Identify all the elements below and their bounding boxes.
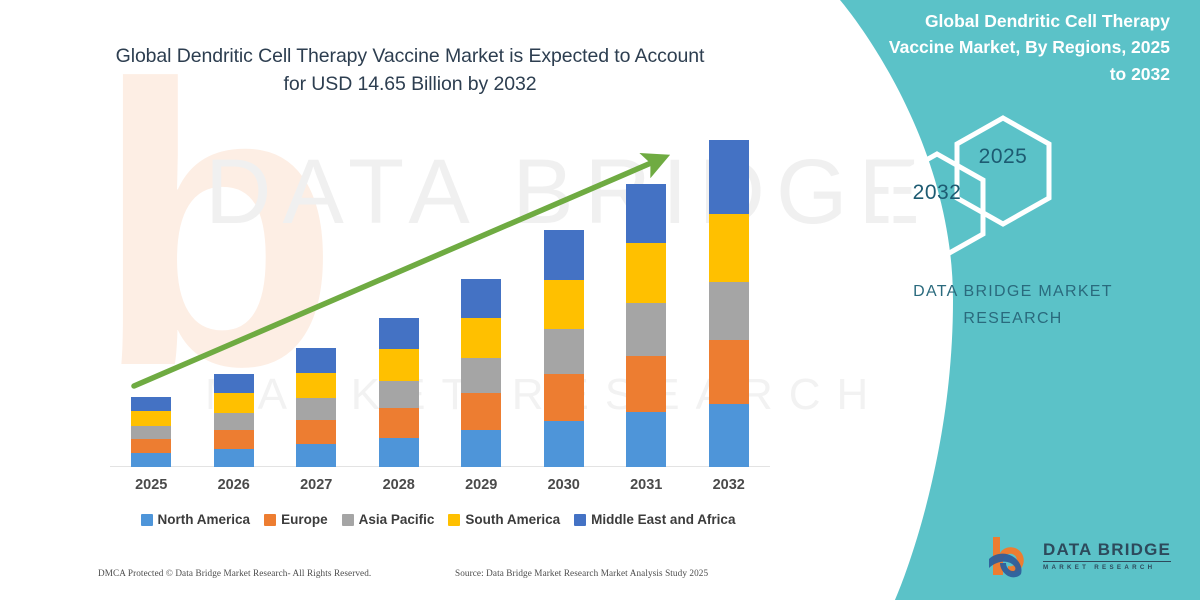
x-axis-tick-label: 2030 [524,477,604,493]
bar-segment [131,426,171,439]
bar-group [379,318,419,467]
x-axis-tick-label: 2032 [689,477,769,493]
legend-swatch-icon [448,514,460,526]
bar-segment [131,411,171,426]
bar-segment [544,421,584,467]
bar-segment [214,393,254,413]
bar-segment [626,356,666,413]
bar-segment [709,140,749,214]
bar-segment [626,184,666,243]
bar-group [461,279,501,467]
bar-segment [214,449,254,467]
x-axis-tick-label: 2029 [441,477,521,493]
bar-segment [544,329,584,373]
legend-swatch-icon [141,514,153,526]
plot-area [110,140,770,467]
legend-label: South America [465,512,560,527]
bar-segment [461,279,501,318]
dbmr-logo: DATA BRIDGE MARKET RESEARCH [985,530,1185,582]
bar-segment [296,348,336,373]
bar-segment [296,420,336,444]
bar-segment [626,243,666,303]
x-axis-labels: 20252026202720282029203020312032 [110,477,770,499]
bar-segment [709,404,749,467]
legend-item[interactable]: Middle East and Africa [574,512,735,527]
panel-brand-text: DATA BRIDGE MARKET RESEARCH [848,278,1178,332]
bar-segment [461,393,501,431]
panel-brand-line1: DATA BRIDGE MARKET [848,278,1178,305]
legend-item[interactable]: Asia Pacific [342,512,435,527]
footer-copyright: DMCA Protected © Data Bridge Market Rese… [98,568,371,578]
bar-segment [461,358,501,393]
hexagon-2032-icon [882,148,992,268]
bar-segment [214,430,254,449]
bar-segment [131,439,171,453]
bar-group [296,348,336,467]
panel-content: Global Dendritic Cell Therapy Vaccine Ma… [800,0,1200,600]
bar-segment [544,280,584,330]
bar-segment [131,397,171,412]
footer-source: Source: Data Bridge Market Research Mark… [455,568,708,578]
bar-segment [461,318,501,358]
bar-segment [379,318,419,349]
bar-group [626,184,666,467]
dbmr-logo-name: DATA BRIDGE [1043,541,1171,560]
legend-label: Europe [281,512,328,527]
bar-segment [379,381,419,409]
bar-segment [709,214,749,283]
chart-legend: North AmericaEuropeAsia PacificSouth Ame… [108,512,768,527]
bar-segment [626,303,666,356]
legend-item[interactable]: Europe [264,512,328,527]
bar-segment [214,413,254,430]
hexagon-2032-label: 2032 [906,181,968,205]
x-axis-tick-label: 2026 [194,477,274,493]
bar-segment [296,398,336,420]
legend-item[interactable]: North America [141,512,251,527]
bar-segment [461,430,501,467]
bar-group [709,140,749,467]
x-axis-tick-label: 2028 [359,477,439,493]
infographic-canvas: b DATA BRIDGE MARKET RESEARCH Global Den… [0,0,1200,600]
bar-segment [379,408,419,438]
legend-swatch-icon [574,514,586,526]
bar-segment [544,230,584,280]
bar-segment [379,438,419,467]
bar-group [131,397,171,467]
legend-label: North America [158,512,251,527]
bar-chart: 20252026202720282029203020312032 [0,0,800,600]
bar-segment [709,282,749,340]
bar-group [214,374,254,467]
legend-swatch-icon [342,514,354,526]
bar-segment [296,373,336,398]
legend-label: Asia Pacific [359,512,435,527]
bar-segment [626,412,666,467]
bar-segment [544,374,584,421]
legend-swatch-icon [264,514,276,526]
legend-label: Middle East and Africa [591,512,735,527]
bar-segment [709,340,749,403]
bar-segment [379,349,419,380]
x-axis-tick-label: 2025 [111,477,191,493]
x-axis-tick-label: 2031 [606,477,686,493]
bar-group [544,230,584,467]
hexagon-badges: 2025 2032 [800,0,1200,240]
x-axis-tick-label: 2027 [276,477,356,493]
bar-segment [296,444,336,467]
bar-segment [131,453,171,467]
dbmr-logo-tagline: MARKET RESEARCH [1043,561,1171,571]
dbmr-logo-mark-icon [985,533,1035,579]
panel-brand-line2: RESEARCH [848,305,1178,332]
bar-segment [214,374,254,394]
legend-item[interactable]: South America [448,512,560,527]
